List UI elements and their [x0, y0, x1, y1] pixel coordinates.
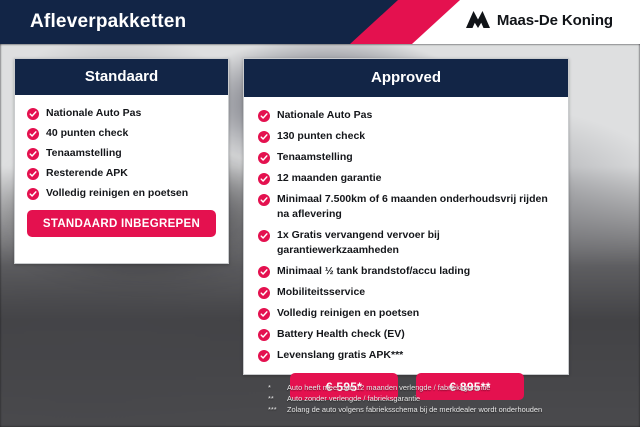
approved-feature-label: 12 maanden garantie	[277, 171, 381, 186]
check-circle-icon	[258, 110, 270, 122]
page-header: Afleverpakketten Maas-De Koning	[0, 0, 640, 44]
approved-feature-list: Nationale Auto Pas130 punten checkTenaam…	[258, 108, 556, 363]
check-circle-icon	[27, 168, 39, 180]
footnote: ***Zolang de auto volgens fabrieksschema…	[268, 404, 633, 415]
list-item: Levenslang gratis APK***	[258, 348, 556, 363]
list-item: 12 maanden garantie	[258, 171, 556, 186]
standaard-feature-label: Nationale Auto Pas	[46, 106, 141, 120]
footnote: **Auto zonder verlengde / fabrieksgarant…	[268, 393, 633, 404]
maas-de-koning-m-logo-icon	[466, 11, 490, 29]
approved-feature-label: Mobiliteitsservice	[277, 285, 365, 300]
check-circle-icon	[258, 329, 270, 341]
footnote-text: Auto heeft meer dan 12 maanden verlengde…	[287, 382, 633, 393]
card-standaard-title: Standaard	[15, 59, 228, 95]
card-standaard: Standaard Nationale Auto Pas40 punten ch…	[14, 58, 229, 264]
list-item: Volledig reinigen en poetsen	[27, 186, 216, 200]
check-circle-icon	[27, 148, 39, 160]
list-item: Nationale Auto Pas	[258, 108, 556, 123]
check-circle-icon	[258, 266, 270, 278]
list-item: Battery Health check (EV)	[258, 327, 556, 342]
list-item: Minimaal 7.500km of 6 maanden onderhouds…	[258, 192, 556, 222]
list-item: 40 punten check	[27, 126, 216, 140]
check-circle-icon	[258, 152, 270, 164]
standaard-feature-list: Nationale Auto Pas40 punten checkTenaams…	[27, 106, 216, 200]
list-item: 1x Gratis vervangend vervoer bij garanti…	[258, 228, 556, 258]
approved-feature-label: Volledig reinigen en poetsen	[277, 306, 419, 321]
approved-feature-label: Minimaal 7.500km of 6 maanden onderhouds…	[277, 192, 556, 222]
check-circle-icon	[258, 194, 270, 206]
approved-feature-label: Levenslang gratis APK***	[277, 348, 403, 363]
check-circle-icon	[258, 287, 270, 299]
check-circle-icon	[27, 128, 39, 140]
footnote-text: Zolang de auto volgens fabrieksschema bi…	[287, 404, 633, 415]
check-circle-icon	[27, 108, 39, 120]
footnote-list: *Auto heeft meer dan 12 maanden verlengd…	[268, 382, 633, 415]
card-standaard-body: Nationale Auto Pas40 punten checkTenaams…	[15, 95, 228, 237]
footnote-marker: **	[268, 393, 280, 404]
standaard-feature-label: Tenaamstelling	[46, 146, 122, 160]
approved-feature-label: Minimaal ½ tank brandstof/accu lading	[277, 264, 470, 279]
list-item: Mobiliteitsservice	[258, 285, 556, 300]
card-approved-body: Nationale Auto Pas130 punten checkTenaam…	[244, 97, 568, 400]
approved-feature-label: Tenaamstelling	[277, 150, 353, 165]
brand-name: Maas-De Koning	[497, 12, 613, 29]
check-circle-icon	[258, 350, 270, 362]
brand-logo: Maas-De Koning	[466, 11, 613, 29]
list-item: Minimaal ½ tank brandstof/accu lading	[258, 264, 556, 279]
approved-feature-label: Battery Health check (EV)	[277, 327, 405, 342]
list-item: Nationale Auto Pas	[27, 106, 216, 120]
list-item: Resterende APK	[27, 166, 216, 180]
footnote-text: Auto zonder verlengde / fabrieksgarantie	[287, 393, 633, 404]
standaard-inbegrepen-button[interactable]: STANDAARD INBEGREPEN	[27, 210, 216, 237]
standaard-feature-label: 40 punten check	[46, 126, 128, 140]
list-item: Tenaamstelling	[258, 150, 556, 165]
footnote-marker: ***	[268, 404, 280, 415]
check-circle-icon	[258, 230, 270, 242]
page-title: Afleverpakketten	[30, 11, 186, 33]
footnote-marker: *	[268, 382, 280, 393]
list-item: 130 punten check	[258, 129, 556, 144]
approved-feature-label: 130 punten check	[277, 129, 365, 144]
check-circle-icon	[258, 308, 270, 320]
check-circle-icon	[27, 188, 39, 200]
approved-feature-label: Nationale Auto Pas	[277, 108, 372, 123]
afleverpakketten-page: Afleverpakketten Maas-De Koning Standaar…	[0, 0, 640, 427]
check-circle-icon	[258, 131, 270, 143]
footnote: *Auto heeft meer dan 12 maanden verlengd…	[268, 382, 633, 393]
card-approved-title: Approved	[244, 59, 568, 97]
list-item: Tenaamstelling	[27, 146, 216, 160]
standaard-feature-label: Volledig reinigen en poetsen	[46, 186, 188, 200]
standaard-feature-label: Resterende APK	[46, 166, 128, 180]
approved-feature-label: 1x Gratis vervangend vervoer bij garanti…	[277, 228, 556, 258]
card-approved: Approved Nationale Auto Pas130 punten ch…	[243, 58, 569, 375]
list-item: Volledig reinigen en poetsen	[258, 306, 556, 321]
check-circle-icon	[258, 173, 270, 185]
